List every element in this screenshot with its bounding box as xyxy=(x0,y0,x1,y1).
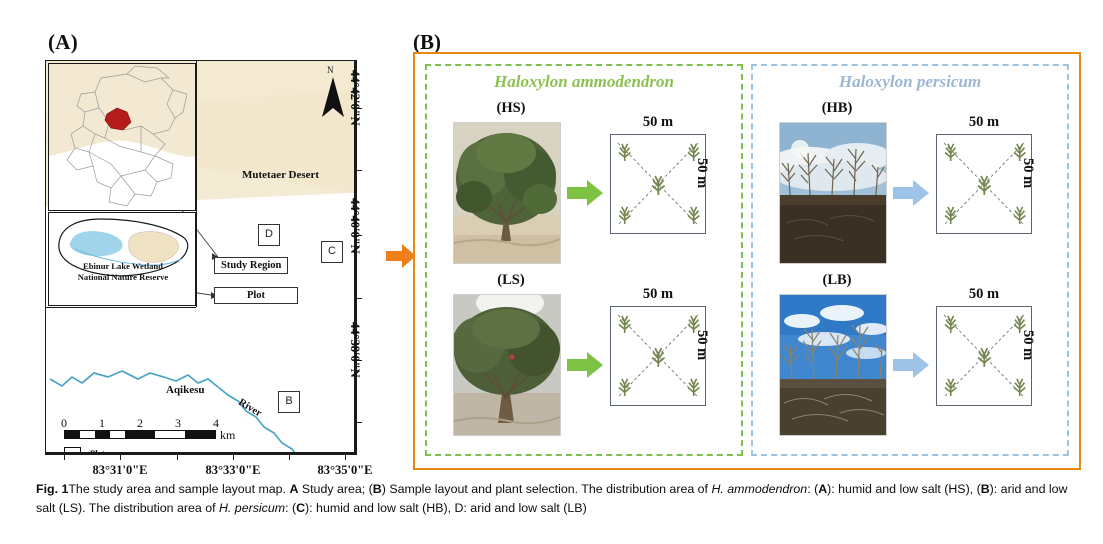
desert-label: Mutetaer Desert xyxy=(242,169,319,181)
callout-study-region: Study Region xyxy=(214,257,288,274)
caption-species-2: H. persicum xyxy=(219,501,285,515)
plot-box-b: B xyxy=(278,391,300,413)
caption-text-7: : ( xyxy=(285,501,296,515)
xinjiang-inset-map xyxy=(48,63,196,211)
plot-content-hb xyxy=(936,134,1032,234)
plot-top-label-hs: 50 m xyxy=(610,114,706,131)
photo-hb xyxy=(779,122,887,264)
site-code-hs: (HS) xyxy=(451,100,571,117)
site-code-hb: (HB) xyxy=(777,100,897,117)
species-column-ammodendron: Haloxylon ammodendron (HS) xyxy=(425,64,743,456)
lon-label: 83°33'0"E xyxy=(206,463,261,478)
photo-lb xyxy=(779,294,887,436)
north-arrow: N xyxy=(320,67,346,119)
plot-diagram-hs: 50 m xyxy=(610,134,706,234)
lat-tick xyxy=(355,170,362,171)
panel-a-label: (A) xyxy=(48,30,78,55)
north-arrow-label: N xyxy=(327,65,334,75)
callout-plot: Plot xyxy=(214,287,298,304)
figure-root: (A) xyxy=(0,0,1103,544)
caption-text-2: Study area; ( xyxy=(298,482,372,496)
lat-label: 44°40'0"N xyxy=(347,198,362,254)
plot-diagram-hb: 50 m xyxy=(936,134,1032,234)
plot-content-lb xyxy=(936,306,1032,406)
caption-text-4: : ( xyxy=(807,482,818,496)
caption-bold-B: B xyxy=(981,482,990,496)
plot-top-label-hb: 50 m xyxy=(936,114,1032,131)
plot-diagram-lb: 50 m xyxy=(936,306,1032,406)
site-hb: (HB) xyxy=(753,102,1067,272)
figure-caption: Fig. 1The study area and sample layout m… xyxy=(36,480,1070,518)
plot-content-hs xyxy=(610,134,706,234)
xinjiang-outline xyxy=(49,64,196,211)
photo-ls xyxy=(453,294,561,436)
arrow-hb xyxy=(893,180,929,206)
caption-text-1: The study area and sample layout map. xyxy=(68,482,289,496)
species-column-persicum: Haloxylon persicum (HB) xyxy=(751,64,1069,456)
scale-bar-segments xyxy=(64,430,216,439)
arrow-hs xyxy=(567,180,603,206)
legend-item-plot: Plot xyxy=(64,445,114,453)
lon-tick xyxy=(289,453,290,460)
panel-b-sample-layout: (B) Haloxylon ammodendron (HS) xyxy=(413,30,1081,470)
plot-top-label-lb: 50 m xyxy=(936,286,1032,303)
lon-tick xyxy=(345,453,346,460)
site-hs: (HS) xyxy=(427,102,741,272)
site-code-lb: (LB) xyxy=(777,272,897,289)
arrow-ls xyxy=(567,352,603,378)
inset-vertical-divider xyxy=(196,61,197,307)
ebinur-inset-caption: Ebinur Lake Wetland National Nature Rese… xyxy=(49,261,196,282)
caption-text-5: ): humid and low salt (HS), ( xyxy=(827,482,981,496)
lon-tick xyxy=(233,453,234,460)
lon-tick xyxy=(64,453,65,460)
site-lb: (LB) xyxy=(753,274,1067,444)
scale-bar-ticks: 0 1 2 3 4 xyxy=(64,416,216,430)
map-legend: Plot Desert River xyxy=(64,445,114,453)
lon-tick xyxy=(120,453,121,460)
lon-label: 83°31'0"E xyxy=(93,463,148,478)
lon-tick xyxy=(177,453,178,460)
plot-box-d: D xyxy=(258,224,280,246)
caption-bold-A: A xyxy=(818,482,827,496)
plot-top-label-ls: 50 m xyxy=(610,286,706,303)
site-code-ls: (LS) xyxy=(451,272,571,289)
panel-b-frame: Haloxylon ammodendron (HS) xyxy=(413,52,1081,470)
plot-side-label-hs: 50 m xyxy=(693,158,710,188)
scale-bar: 0 1 2 3 4 km xyxy=(64,416,216,439)
inset-horizontal-divider xyxy=(46,307,196,308)
figure-number: Fig. 1 xyxy=(36,482,68,496)
plot-side-label-hb: 50 m xyxy=(1019,158,1036,188)
plot-side-label-lb: 50 m xyxy=(1019,330,1036,360)
lat-label: 44°38'0"N xyxy=(347,322,362,378)
scale-bar-unit: km xyxy=(220,428,235,443)
site-ls: (LS) xyxy=(427,274,741,444)
lon-label: 83°35'0"E xyxy=(318,463,373,478)
panel-a-study-area: (A) xyxy=(36,30,408,470)
caption-text-8: ): humid and low salt (HB), D: arid and … xyxy=(305,501,587,515)
caption-bold-C: C xyxy=(296,501,305,515)
caption-text-3: ) Sample layout and plant selection. The… xyxy=(382,482,712,496)
longitude-axis xyxy=(45,453,357,455)
ebinur-lake-inset-map: Ebinur Lake Wetland National Nature Rese… xyxy=(48,212,196,306)
plot-box-c: C xyxy=(321,241,343,263)
plot-content-ls xyxy=(610,306,706,406)
river-name-label: Aqikesu xyxy=(166,384,205,396)
plot-diagram-ls: 50 m xyxy=(610,306,706,406)
photo-hs xyxy=(453,122,561,264)
species-title-persicum: Haloxylon persicum xyxy=(753,72,1067,92)
species-title-ammodendron: Haloxylon ammodendron xyxy=(427,72,741,92)
plot-side-label-ls: 50 m xyxy=(693,330,710,360)
panel-connector-arrow xyxy=(386,243,416,269)
caption-species-1: H. ammodendron xyxy=(711,482,807,496)
caption-bold-b: B xyxy=(373,482,382,496)
study-area-map: Ebinur Lake Wetland National Nature Rese… xyxy=(45,60,355,453)
lat-tick xyxy=(355,422,362,423)
lat-label: 44°42'0"N xyxy=(347,70,362,126)
lat-tick xyxy=(355,298,362,299)
arrow-lb xyxy=(893,352,929,378)
